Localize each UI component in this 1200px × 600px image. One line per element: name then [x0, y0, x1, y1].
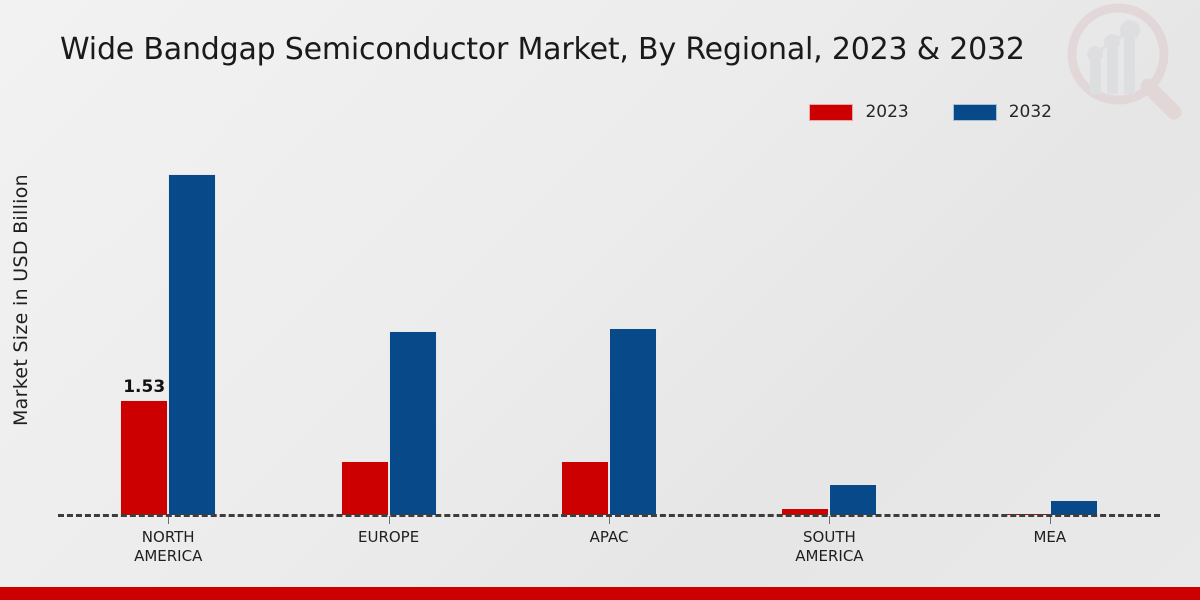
chart-legend: 2023 2032 [809, 102, 1052, 122]
bar-group: EUROPE [278, 140, 498, 515]
bar-pair [341, 140, 437, 515]
x-axis-tick [1050, 516, 1051, 524]
bar-2032[interactable] [389, 331, 437, 515]
bar-group: MEA [940, 140, 1160, 515]
x-axis-category-line: APAC [590, 528, 629, 547]
bar-2023[interactable]: 1.53 [120, 400, 168, 515]
page-title: Wide Bandgap Semiconductor Market, By Re… [60, 32, 1025, 67]
x-axis-category-line: AMERICA [134, 547, 202, 566]
x-axis-category-label: EUROPE [358, 528, 419, 547]
x-axis-category-label: SOUTHAMERICA [795, 528, 863, 566]
x-axis-tick [609, 516, 610, 524]
x-axis-tick [168, 516, 169, 524]
bar-group: SOUTHAMERICA [719, 140, 939, 515]
bar-value-label: 1.53 [123, 377, 165, 397]
x-axis-tick [829, 516, 830, 524]
bar-2032[interactable] [1050, 500, 1098, 515]
x-axis-baseline [58, 514, 1160, 517]
bar-2032[interactable] [168, 174, 216, 515]
bar-pair: 1.53 [120, 140, 216, 515]
x-axis-tick [389, 516, 390, 524]
x-axis-category-line: EUROPE [358, 528, 419, 547]
legend-label-2032: 2032 [1009, 102, 1052, 122]
bar-group: 1.53NORTHAMERICA [58, 140, 278, 515]
legend-swatch-2032 [953, 104, 997, 121]
x-axis-category-label: MEA [1033, 528, 1066, 547]
x-axis-category-line: NORTH [134, 528, 202, 547]
bar-2032[interactable] [829, 484, 877, 515]
legend-swatch-2023 [809, 104, 853, 121]
y-axis-title: Market Size in USD Billion [4, 0, 38, 600]
bar-2032[interactable] [609, 328, 657, 516]
x-axis-category-label: APAC [590, 528, 629, 547]
footer-accent-bar [0, 587, 1200, 600]
legend-item-2023[interactable]: 2023 [809, 102, 908, 122]
legend-label-2023: 2023 [865, 102, 908, 122]
bar-2023[interactable] [341, 461, 389, 515]
bar-pair [1002, 140, 1098, 515]
chart-canvas: Wide Bandgap Semiconductor Market, By Re… [0, 0, 1200, 600]
watermark-logo-icon [1056, 0, 1196, 134]
bar-pair [561, 140, 657, 515]
x-axis-category-line: SOUTH [795, 528, 863, 547]
bar-groups: 1.53NORTHAMERICAEUROPEAPACSOUTHAMERICAME… [58, 140, 1160, 515]
plot-area: 1.53NORTHAMERICAEUROPEAPACSOUTHAMERICAME… [58, 140, 1160, 515]
bar-2023[interactable] [561, 461, 609, 515]
y-axis-title-text: Market Size in USD Billion [10, 174, 32, 426]
x-axis-category-line: MEA [1033, 528, 1066, 547]
bar-pair [781, 140, 877, 515]
x-axis-category-line: AMERICA [795, 547, 863, 566]
legend-item-2032[interactable]: 2032 [953, 102, 1052, 122]
x-axis-category-label: NORTHAMERICA [134, 528, 202, 566]
bar-group: APAC [499, 140, 719, 515]
